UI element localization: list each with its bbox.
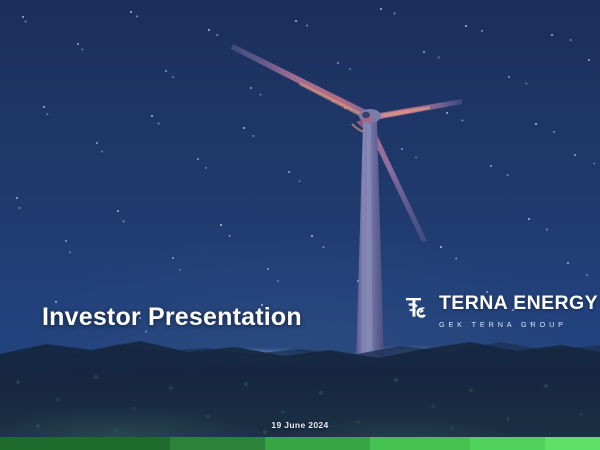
terna-energy-monogram-icon — [404, 294, 432, 322]
accent-bar — [0, 437, 600, 450]
accent-bar-segment-6 — [545, 437, 600, 450]
accent-bar-segment-5 — [470, 437, 545, 450]
presentation-slide: Investor Presentation TERNA ENERGY GEK T… — [0, 0, 600, 450]
accent-bar-segment-1 — [0, 437, 170, 450]
logo-tagline: GEK TERNA GROUP — [439, 320, 567, 329]
company-logo: TERNA ENERGY GEK TERNA GROUP — [404, 293, 600, 332]
accent-bar-segment-4 — [370, 437, 470, 450]
accent-bar-segment-2 — [170, 437, 265, 450]
page-title: Investor Presentation — [42, 303, 302, 332]
slide-date: 19 June 2024 — [0, 420, 600, 430]
accent-bar-segment-3 — [265, 437, 370, 450]
logo-company-name: TERNA ENERGY — [439, 292, 598, 314]
logo-text-block: TERNA ENERGY GEK TERNA GROUP — [439, 293, 600, 332]
